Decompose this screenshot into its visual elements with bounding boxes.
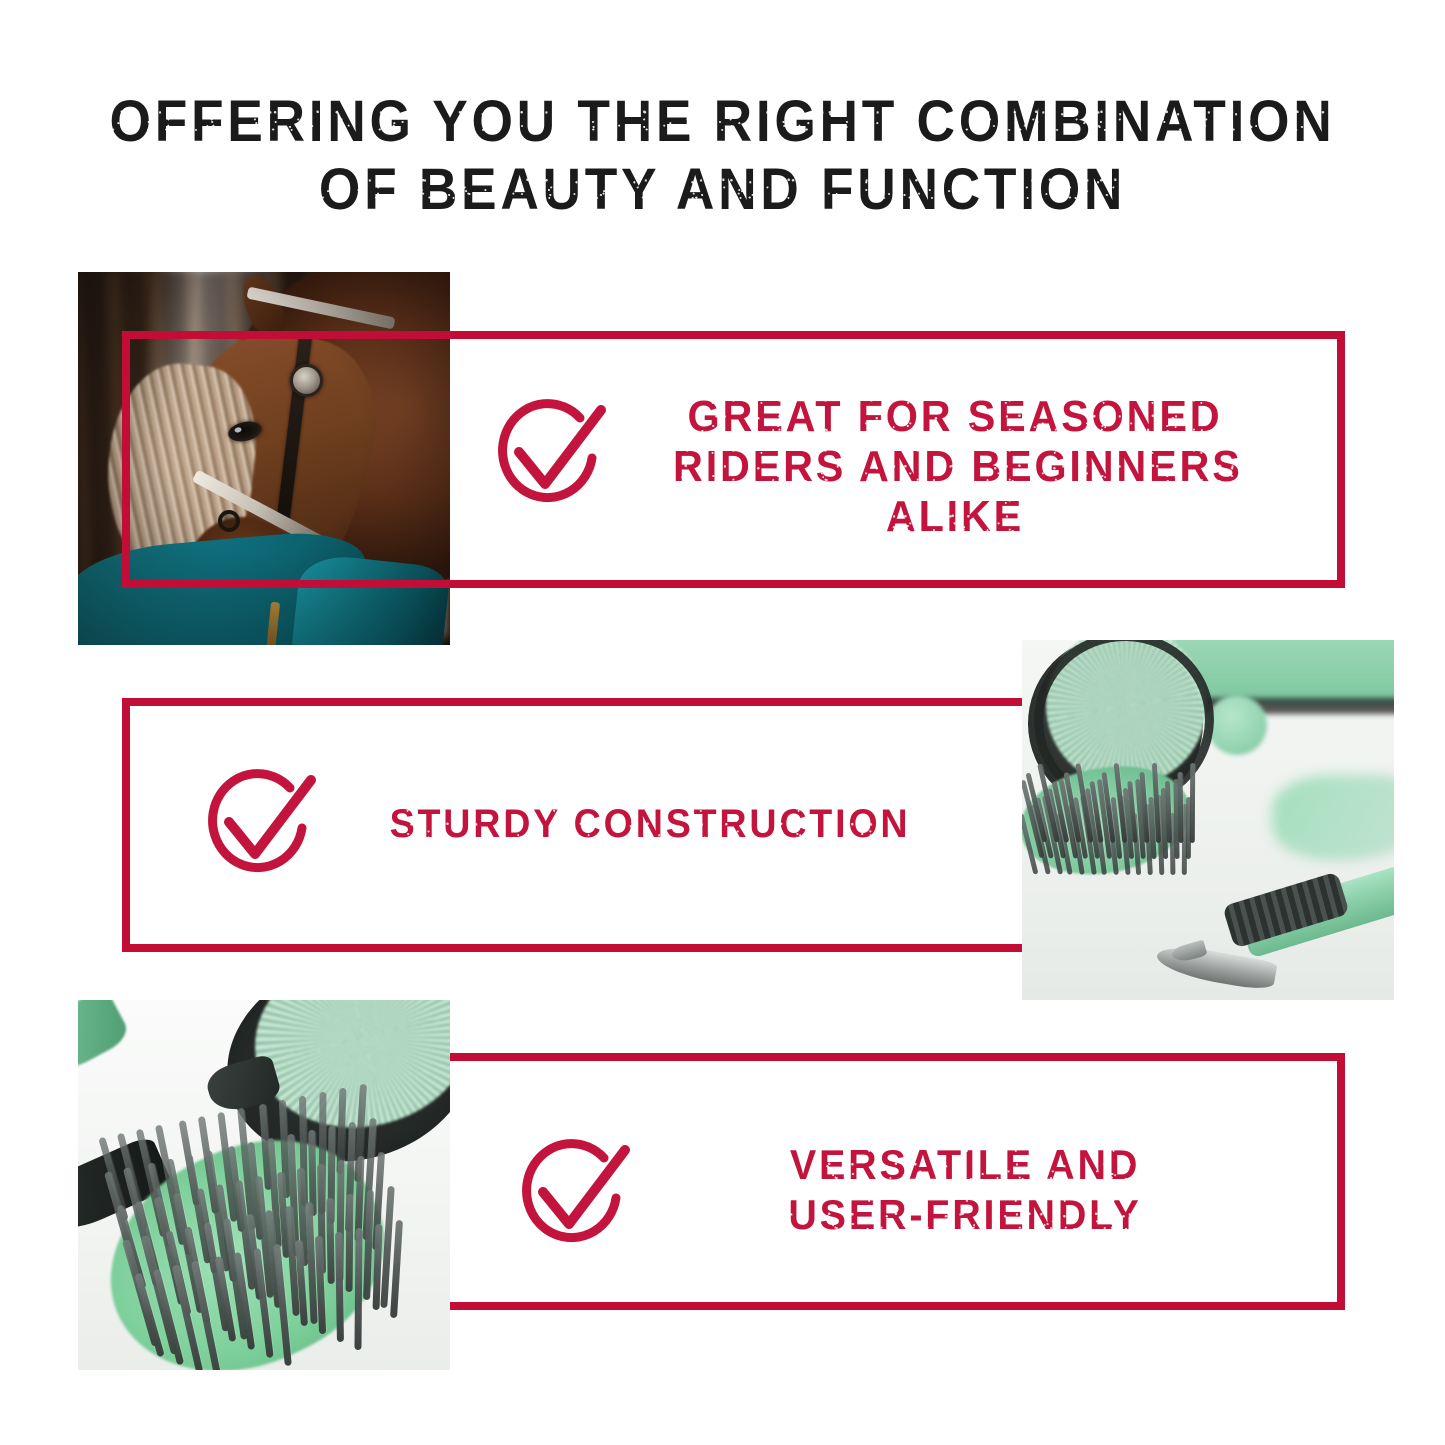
feature-text-1: GREAT FOR SEASONED RIDERS AND BEGINNERS … [673,392,1237,542]
feature-photo-grooming-kit [1022,640,1394,1000]
feature-text-2: STURDY CONSTRUCTION [368,800,932,848]
page-title-line-1-text: OFFERING YOU THE RIGHT COMBINATION [110,88,1336,156]
check-circle-icon [198,762,322,886]
check-circle-icon [488,392,612,516]
feature-text-3: VERSATILE AND USER-FRIENDLY [683,1140,1247,1240]
mane-brush-pins [88,1100,408,1370]
page-title: OFFERING YOU THE RIGHT COMBINATION OF BE… [0,88,1445,224]
check-circle-icon [512,1132,636,1256]
page-title-line-2: OF BEAUTY AND FUNCTION [58,156,1387,224]
feature-3-line-2: USER-FRIENDLY [683,1190,1247,1240]
green-accessory-blob [1207,695,1267,755]
feature-photo-mane-brush [78,1000,450,1370]
page-title-line-2-text: OF BEAUTY AND FUNCTION [319,156,1126,224]
mane-comb-pins [1022,736,1196,881]
feature-3-line-1: VERSATILE AND [683,1140,1247,1190]
page-title-line-1: OFFERING YOU THE RIGHT COMBINATION [58,88,1387,156]
feature-1-line-2: RIDERS AND BEGINNERS [673,442,1237,492]
feature-2-line-1: STURDY CONSTRUCTION [368,800,932,848]
feature-1-line-3: ALIKE [673,492,1237,542]
green-reflection [1272,775,1394,860]
feature-1-line-1: GREAT FOR SEASONED [673,392,1237,442]
